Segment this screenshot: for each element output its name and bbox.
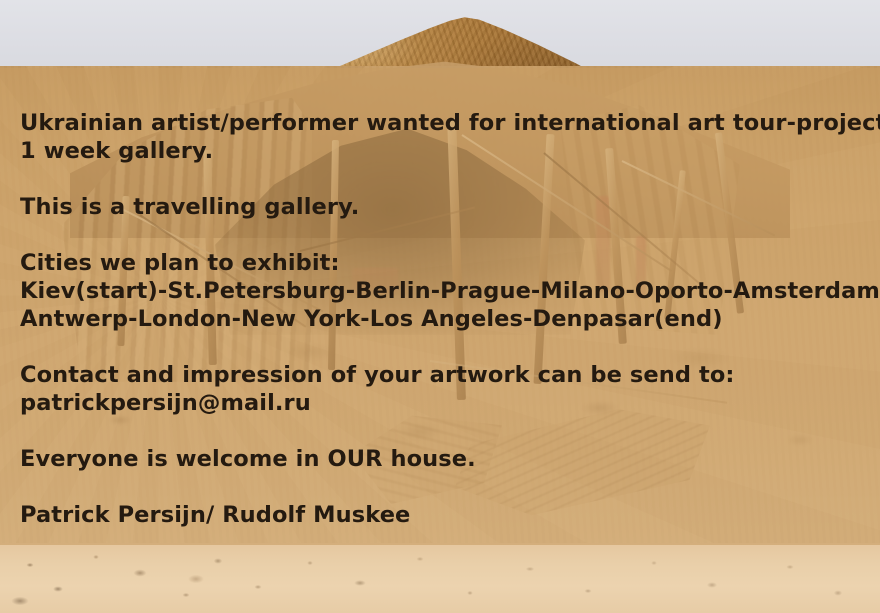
headline-line-1: Ukrainian artist/performer wanted for in…	[20, 109, 880, 137]
travelling-gallery-line: This is a travelling gallery.	[20, 193, 880, 221]
cities-heading: Cities we plan to exhibit:	[20, 249, 880, 277]
cities-route-line-2: Antwerp-London-New York-Los Angeles-Denp…	[20, 305, 880, 333]
announcement-text-block: Ukrainian artist/performer wanted for in…	[20, 109, 880, 529]
cities-route-line-1: Kiev(start)-St.Petersburg-Berlin-Prague-…	[20, 277, 880, 305]
contact-instruction-line: Contact and impression of your artwork c…	[20, 361, 880, 389]
headline-line-2: 1 week gallery.	[20, 137, 880, 165]
welcome-line: Everyone is welcome in OUR house.	[20, 445, 880, 473]
contact-email[interactable]: patrickpersijn@mail.ru	[20, 389, 880, 417]
foreground-pebbles	[0, 543, 880, 613]
poster-canvas: Ukrainian artist/performer wanted for in…	[0, 0, 880, 613]
announcement-overlay-panel: Ukrainian artist/performer wanted for in…	[0, 68, 880, 545]
signature-line: Patrick Persijn/ Rudolf Muskee	[20, 501, 880, 529]
